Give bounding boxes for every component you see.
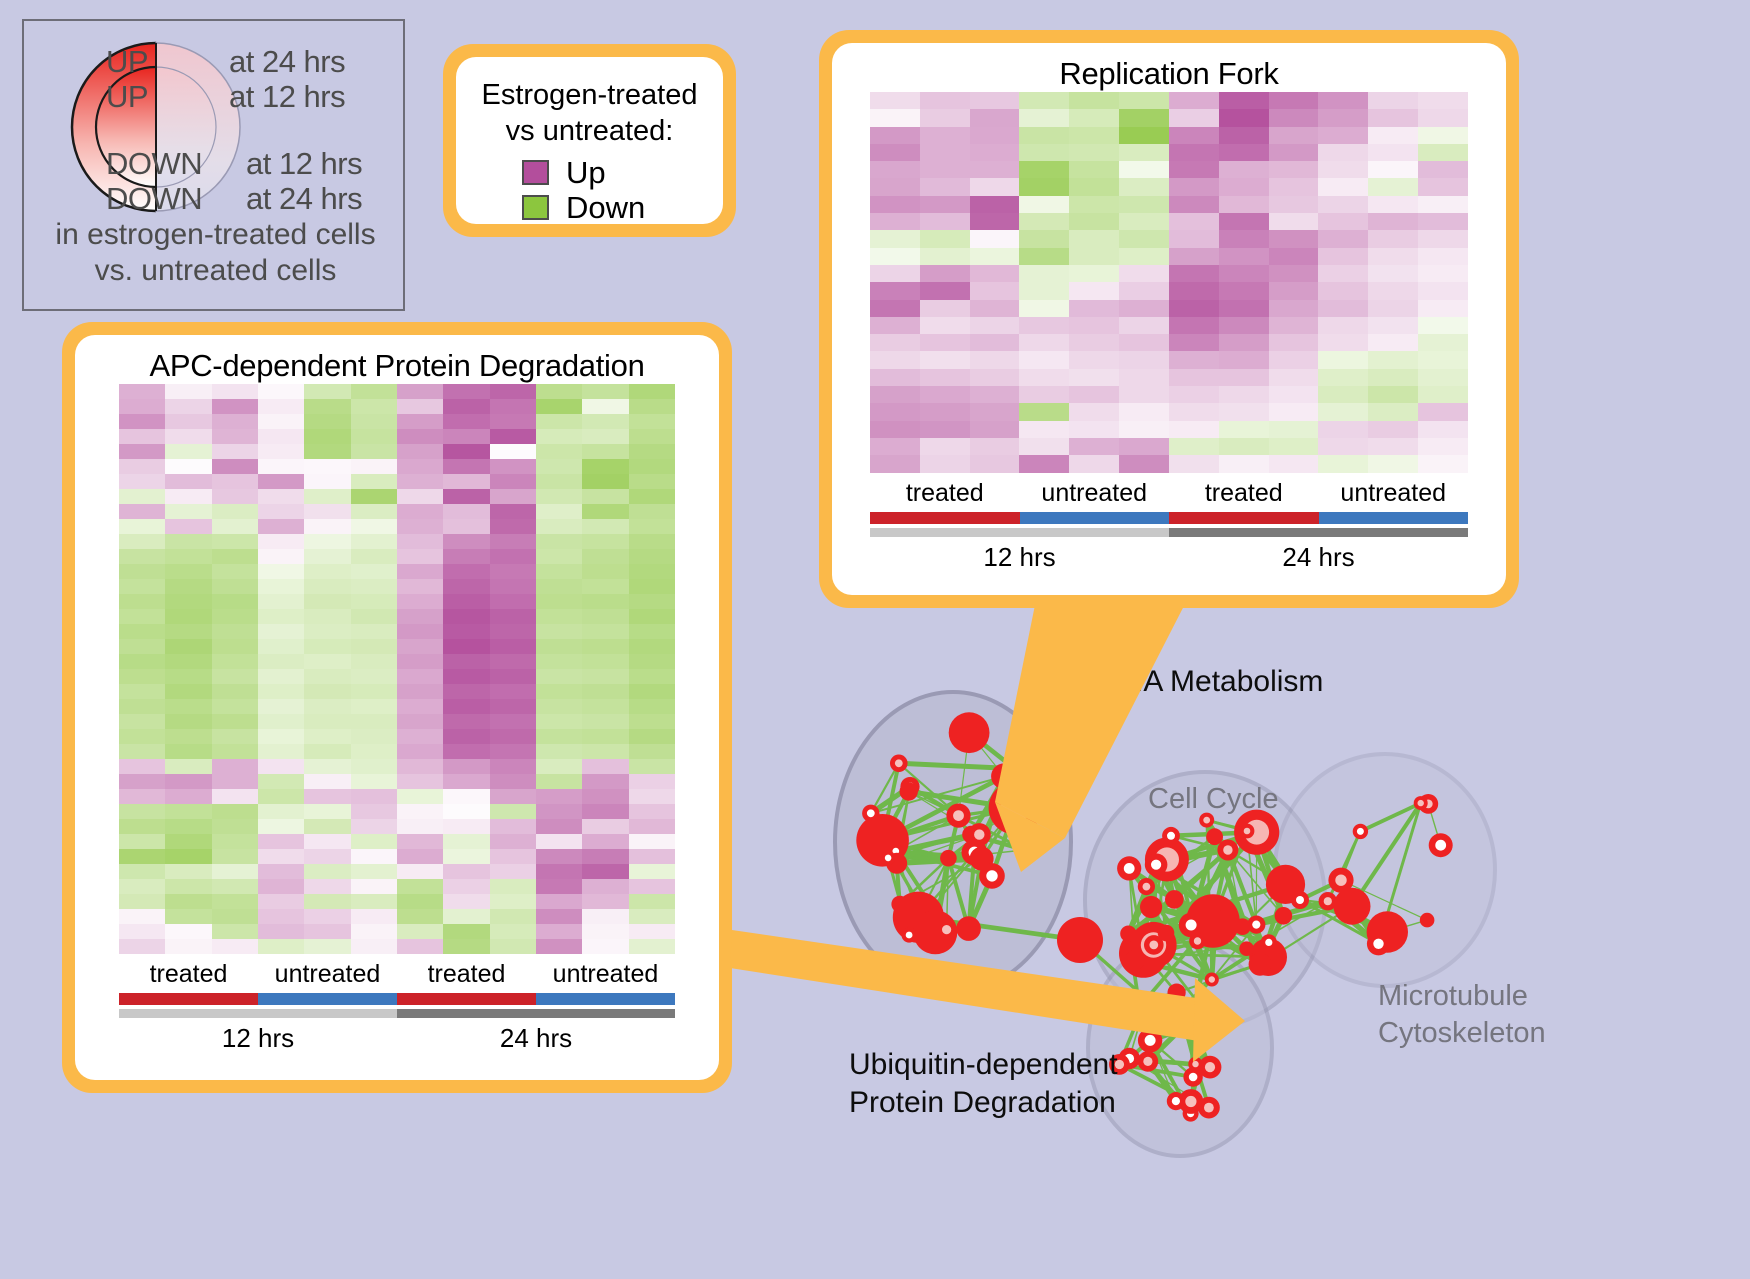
heatmap-cell [536,414,582,429]
network-node-core [1022,847,1029,854]
heatmap-cell [397,564,443,579]
heatmap-cell [629,609,675,624]
group-label-0: treated [119,960,258,989]
heatmap-cell [1169,369,1219,386]
network-node-core [1124,863,1135,874]
heatmap-cell [629,444,675,459]
heatmap-cell [119,399,165,414]
heatmap-cell [258,519,304,534]
heatmap-cell [443,594,489,609]
heatmap-cell [629,414,675,429]
heatmap-cell [629,714,675,729]
heatmap-cell [629,654,675,669]
heatmap-cell [351,924,397,939]
heatmap-cell [1019,265,1069,282]
heatmap-cell [443,654,489,669]
heatmap-cell [165,759,211,774]
heatmap-cell [1318,351,1368,368]
heatmap-cell [351,879,397,894]
heatmap-cell [1119,196,1169,213]
heatmap-cell [536,774,582,789]
network-node[interactable] [1158,925,1175,942]
heatmap-cell [1119,300,1169,317]
heatmap-cell [1119,178,1169,195]
heatmap-cell [1318,178,1368,195]
network-node[interactable] [900,782,918,800]
heatmap-cell [397,489,443,504]
network-node[interactable] [1205,909,1225,929]
network-node[interactable] [1249,953,1272,976]
heatmap-cell [1418,109,1468,126]
network-node[interactable] [1168,984,1186,1002]
heatmap-cell [119,924,165,939]
heatmap-cell [490,909,536,924]
network-node[interactable] [1334,888,1371,925]
heatmap-cell [397,639,443,654]
heatmap-cell [536,909,582,924]
heatmap-cell [1368,334,1418,351]
heatmap-cell [1219,213,1269,230]
heatmap-cell [258,924,304,939]
heatmap-cell [536,804,582,819]
wheel-label-down-12: DOWN [106,146,202,182]
heatmap-cell [212,609,258,624]
heatmap-cell [304,624,350,639]
heatmap-cell [629,819,675,834]
heatmap-cell [629,504,675,519]
heatmap-cell [212,624,258,639]
heatmap-cell [351,714,397,729]
heatmap-cell [1069,248,1119,265]
heatmap-cell [490,399,536,414]
heatmap-cell [212,789,258,804]
heatmap-cell [212,804,258,819]
heatmap-cell [397,804,443,819]
heatmap-cell [920,144,970,161]
heatmap-cell [490,579,536,594]
heatmap-cell [397,414,443,429]
heatmap-cell [536,789,582,804]
heatmap-cell [304,924,350,939]
heatmap-row [870,282,1468,299]
heatmap-cell [490,609,536,624]
heatmap-cell [536,729,582,744]
network-node[interactable] [949,712,990,753]
heatmap-cell [536,384,582,399]
heatmap-cell [490,489,536,504]
heatmap-cell [870,92,920,109]
replication-fork-time-bars [870,528,1468,537]
network-node[interactable] [1139,991,1154,1006]
heatmap-cell [1169,300,1219,317]
network-node[interactable] [1420,913,1435,928]
heatmap-cell [304,399,350,414]
heatmap-cell [1019,300,1069,317]
heatmap-cell [920,369,970,386]
heatmap-cell [351,609,397,624]
heatmap-cell [629,684,675,699]
heatmap-cell [920,334,970,351]
heatmap-cell [351,684,397,699]
heatmap-cell [582,549,628,564]
network-node[interactable] [1165,890,1184,909]
heatmap-cell [1119,144,1169,161]
network-node[interactable] [1057,917,1103,963]
heatmap-cell [443,924,489,939]
heatmap-cell [1368,109,1418,126]
heatmap-cell [119,879,165,894]
network-node[interactable] [1125,950,1145,970]
heatmap-cell [970,196,1020,213]
heatmap-cell [1269,403,1319,420]
heatmap-cell [1418,421,1468,438]
network-node-core [1001,793,1030,822]
heatmap-cell [582,504,628,519]
heatmap-cell [258,459,304,474]
heatmap-cell [1318,386,1368,403]
heatmap-cell [397,504,443,519]
heatmap-row [870,161,1468,178]
heatmap-cell [1418,213,1468,230]
heatmap-cell [397,699,443,714]
heatmap-cell [970,438,1020,455]
heatmap-row [119,879,675,894]
heatmap-cell [629,864,675,879]
heatmap-cell [1269,455,1319,472]
heatmap-cell [165,864,211,879]
heatmap-cell [1019,455,1069,472]
heatmap-cell [1219,455,1269,472]
heatmap-cell [351,624,397,639]
wheel-label-down-24: DOWN [106,181,202,217]
heatmap-cell [397,579,443,594]
legend-items: Up Down [456,155,723,224]
heatmap-cell [1169,109,1219,126]
heatmap-cell [165,909,211,924]
heatmap-cell [212,669,258,684]
network-node-core [1185,1096,1196,1107]
heatmap-row [870,265,1468,282]
network-node[interactable] [1275,907,1293,925]
heatmap-cell [1368,248,1418,265]
heatmap-cell [629,579,675,594]
heatmap-row [119,849,675,864]
heatmap-cell [1119,282,1169,299]
network-node-core [1189,1073,1198,1082]
heatmap-cell [165,819,211,834]
heatmap-cell [490,414,536,429]
heatmap-cell [536,699,582,714]
heatmap-cell [1169,144,1219,161]
heatmap-cell [1368,144,1418,161]
heatmap-cell [970,127,1020,144]
heatmap-cell [165,834,211,849]
heatmap-cell [1119,438,1169,455]
heatmap-cell [1269,196,1319,213]
heatmap-cell [165,729,211,744]
heatmap-cell [1069,455,1119,472]
heatmap-cell [1169,265,1219,282]
heatmap-row [119,864,675,879]
heatmap-row [870,317,1468,334]
heatmap-row [870,351,1468,368]
apc-time-labels: 12 hrs 24 hrs [119,1023,675,1054]
heatmap-cell [1019,403,1069,420]
network-node[interactable] [1120,926,1136,942]
heatmap-cell [397,849,443,864]
heatmap-cell [1269,127,1319,144]
heatmap-cell [212,654,258,669]
group-label-1: untreated [258,960,397,989]
heatmap-cell [582,609,628,624]
heatmap-cell [1269,334,1319,351]
heatmap-cell [351,429,397,444]
network-node[interactable] [940,850,957,867]
network-node-core [1137,1013,1146,1022]
heatmap-cell [351,699,397,714]
heatmap-cell [1019,127,1069,144]
network-node-core [1151,860,1161,870]
heatmap-cell [629,594,675,609]
heatmap-cell [351,534,397,549]
heatmap-cell [1019,248,1069,265]
heatmap-cell [351,789,397,804]
heatmap-cell [119,459,165,474]
heatmap-cell [490,474,536,489]
heatmap-cell [212,894,258,909]
heatmap-cell [1019,282,1069,299]
heatmap-cell [970,282,1020,299]
heatmap-cell [970,300,1020,317]
heatmap-cell [536,444,582,459]
heatmap-cell [1368,317,1418,334]
heatmap-cell [304,594,350,609]
heatmap-cell [1318,144,1368,161]
heatmap-cell [165,519,211,534]
heatmap-cell [582,474,628,489]
heatmap-cell [165,624,211,639]
heatmap-cell [119,534,165,549]
heatmap-cell [304,519,350,534]
heatmap-cell [258,639,304,654]
heatmap-cell [1418,300,1468,317]
group-label-2: treated [1169,479,1319,508]
network-node[interactable] [956,916,981,941]
heatmap-cell [351,774,397,789]
heatmap-cell [490,549,536,564]
heatmap-cell [490,654,536,669]
heatmap-cell [582,699,628,714]
heatmap-cell [212,744,258,759]
heatmap-cell [258,759,304,774]
legend-title-line-2: vs untreated: [466,113,713,149]
heatmap-cell [490,774,536,789]
heatmap-cell [443,759,489,774]
heatmap-cell [443,399,489,414]
network-node[interactable] [891,896,908,913]
heatmap-row [870,455,1468,472]
heatmap-cell [351,564,397,579]
heatmap-cell [870,282,920,299]
heatmap-cell [870,351,920,368]
heatmap-cell [165,939,211,954]
heatmap-cell [582,594,628,609]
heatmap-cell [397,684,443,699]
heatmap-cell [443,789,489,804]
wheel-label-up-24: UP [106,44,148,80]
heatmap-cell [212,594,258,609]
heatmap-cell [1069,213,1119,230]
heatmap-cell [490,879,536,894]
heatmap-row [870,144,1468,161]
heatmap-cell [443,864,489,879]
colorwheel-caption: in estrogen-treated cells vs. untreated … [24,217,407,289]
heatmap-cell [1368,386,1418,403]
heatmap-cell [490,444,536,459]
heatmap-cell [490,594,536,609]
heatmap-cell [1219,178,1269,195]
heatmap-cell [304,834,350,849]
heatmap-cell [1119,369,1169,386]
heatmap-cell [582,654,628,669]
expression-legend-panel: Estrogen-treated vs untreated: Up Down [443,44,736,237]
network-node[interactable] [1239,941,1254,956]
heatmap-cell [258,864,304,879]
heatmap-cell [582,489,628,504]
heatmap-cell [1318,369,1368,386]
heatmap-cell [119,414,165,429]
heatmap-row [119,474,675,489]
heatmap-cell [629,939,675,954]
heatmap-cell [536,579,582,594]
heatmap-cell [351,744,397,759]
heatmap-cell [582,909,628,924]
network-node[interactable] [1206,828,1223,845]
heatmap-cell [629,699,675,714]
heatmap-cell [1418,351,1468,368]
heatmap-cell [304,579,350,594]
heatmap-cell [1269,300,1319,317]
heatmap-cell [165,699,211,714]
heatmap-cell [870,109,920,126]
heatmap-cell [1119,455,1169,472]
heatmap-cell [119,639,165,654]
heatmap-cell [1368,161,1418,178]
heatmap-cell [1368,282,1418,299]
heatmap-cell [582,834,628,849]
heatmap-cell [165,639,211,654]
heatmap-cell [582,579,628,594]
network-node-core [953,810,964,821]
heatmap-cell [212,474,258,489]
heatmap-cell [443,744,489,759]
heatmap-cell [1019,213,1069,230]
heatmap-cell [351,639,397,654]
apc-dependent-title: APC-dependent Protein Degradation [75,335,719,384]
heatmap-cell [212,504,258,519]
heatmap-cell [582,564,628,579]
heatmap-cell [490,669,536,684]
heatmap-cell [1119,213,1169,230]
heatmap-cell [397,624,443,639]
heatmap-cell [1069,403,1119,420]
heatmap-cell [1069,109,1119,126]
heatmap-cell [1368,127,1418,144]
heatmap-cell [920,317,970,334]
heatmap-cell [970,161,1020,178]
heatmap-cell [1219,403,1269,420]
heatmap-cell [582,444,628,459]
heatmap-cell [397,774,443,789]
heatmap-cell [1269,92,1319,109]
heatmap-row [119,714,675,729]
heatmap-cell [258,774,304,789]
heatmap-cell [1119,127,1169,144]
ub-line-2: Protein Degradation [849,1084,1118,1122]
heatmap-cell [304,759,350,774]
heatmap-cell [1368,421,1418,438]
heatmap-cell [165,534,211,549]
network-node-core [1335,875,1346,886]
heatmap-cell [443,549,489,564]
heatmap-row [870,403,1468,420]
heatmap-cell [351,519,397,534]
heatmap-cell [920,196,970,213]
heatmap-cell [1069,265,1119,282]
heatmap-cell [490,534,536,549]
heatmap-cell [351,414,397,429]
heatmap-cell [165,594,211,609]
heatmap-cell [920,109,970,126]
heatmap-cell [258,684,304,699]
heatmap-row [119,819,675,834]
heatmap-cell [1418,92,1468,109]
network-node-core [906,932,913,939]
heatmap-cell [304,804,350,819]
heatmap-cell [1269,230,1319,247]
heatmap-cell [1119,334,1169,351]
heatmap-cell [1269,213,1319,230]
heatmap-cell [1069,282,1119,299]
heatmap-cell [165,564,211,579]
heatmap-cell [1368,230,1418,247]
heatmap-row [119,789,675,804]
heatmap-cell [351,594,397,609]
heatmap-cell [1269,161,1319,178]
heatmap-cell [870,438,920,455]
heatmap-cell [1219,196,1269,213]
heatmap-row [870,438,1468,455]
heatmap-cell [582,789,628,804]
heatmap-row [870,230,1468,247]
network-node[interactable] [1140,896,1162,918]
heatmap-cell [1269,248,1319,265]
treatment-bar-3 [1319,512,1469,524]
heatmap-cell [258,474,304,489]
heatmap-row [119,804,675,819]
network-node-core [1252,921,1260,929]
heatmap-cell [119,654,165,669]
heatmap-cell [1368,300,1418,317]
heatmap-cell [1019,317,1069,334]
heatmap-cell [629,519,675,534]
heatmap-cell [1169,178,1219,195]
heatmap-cell [1318,403,1368,420]
legend-title: Estrogen-treated vs untreated: [456,69,723,149]
heatmap-row [870,300,1468,317]
heatmap-cell [258,939,304,954]
heatmap-cell [1169,196,1219,213]
